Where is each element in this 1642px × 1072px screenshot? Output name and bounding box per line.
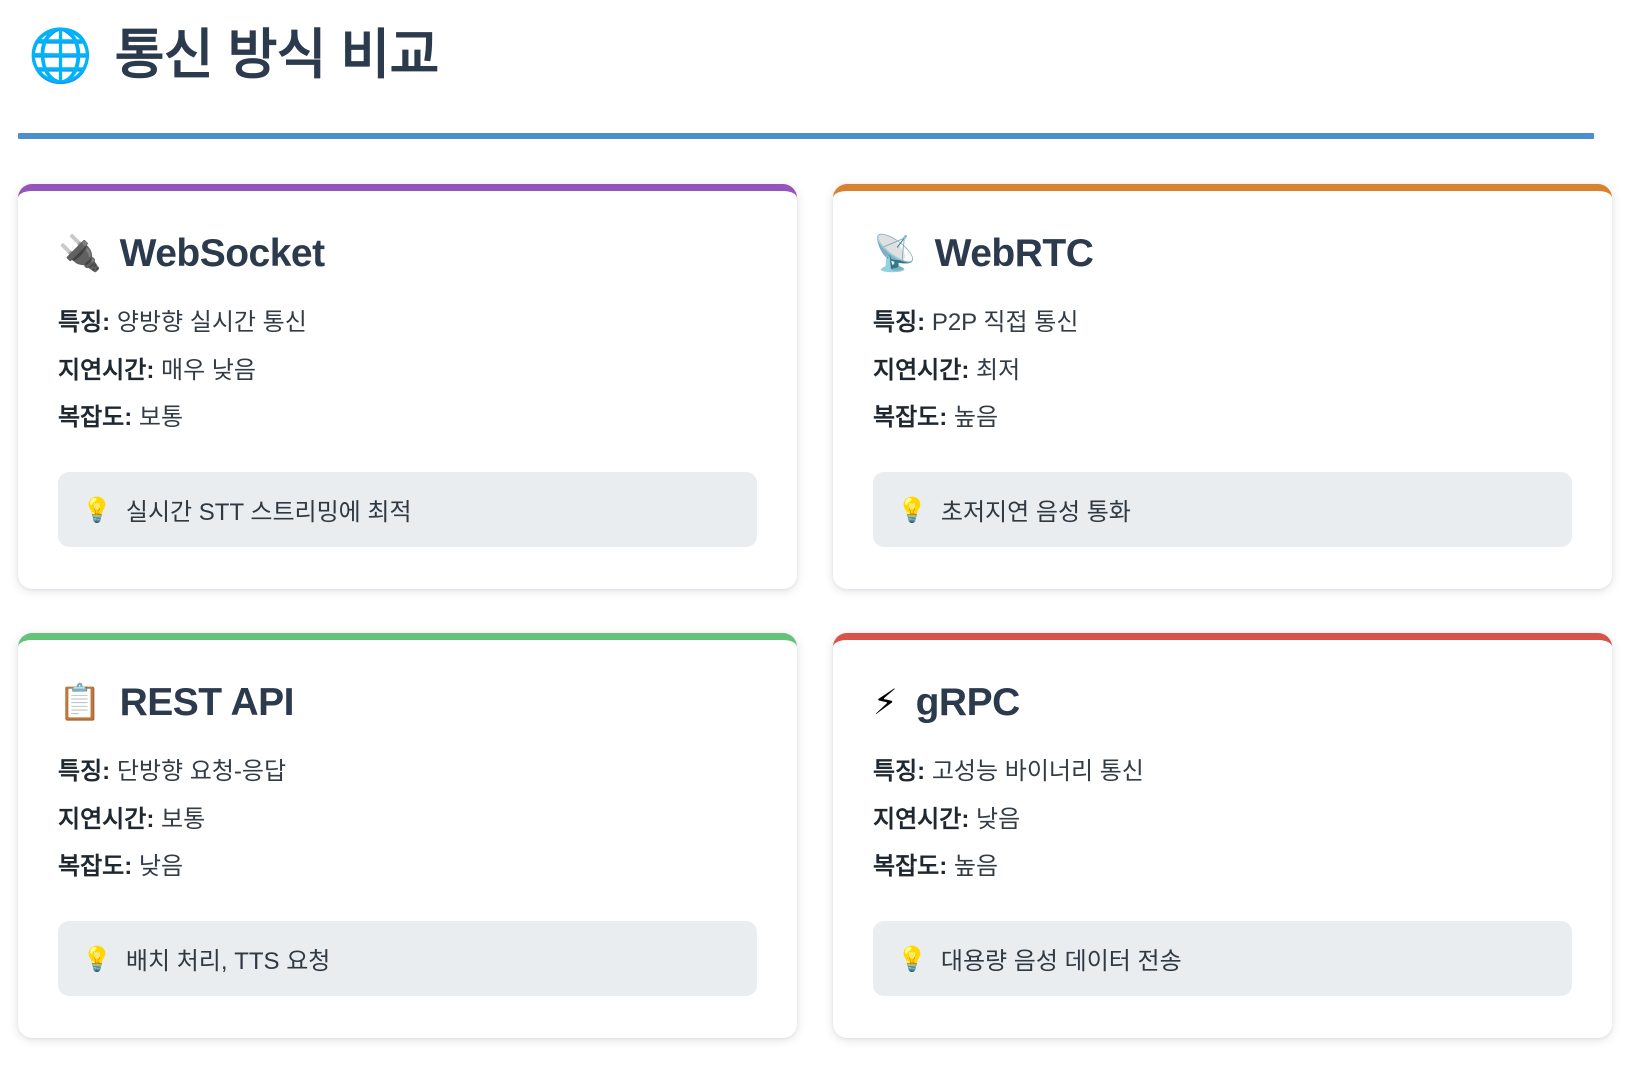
spec-feature-label: 특징: [58,758,110,785]
light-bulb-icon: 💡 [82,498,112,522]
protocol-card-grpc[interactable]: ⚡ gRPC 특징: 고성능 바이너리 통신 지연시간: 낮음 복잡도: 높음 … [833,633,1612,1038]
card-title-text: WebSocket [120,233,325,276]
spec-complexity-value: 높음 [954,404,998,431]
protocol-card-websocket[interactable]: 🔌 WebSocket 특징: 양방향 실시간 통신 지연시간: 매우 낮음 복… [18,184,797,589]
spec-complexity-label: 복잡도: [58,404,132,431]
title-row: 🌐 통신 방식 비교 [18,26,1624,85]
header-divider [18,133,1594,139]
page-title: 통신 방식 비교 [115,26,439,85]
tip-box: 💡 실시간 STT 스트리밍에 최적 [58,472,757,547]
spec-complexity-label: 복잡도: [873,404,947,431]
light-bulb-icon: 💡 [897,498,927,522]
spec-latency-label: 지연시간: [58,806,154,833]
light-bulb-icon: 💡 [897,947,927,971]
spec-complexity-value: 낮음 [139,853,183,880]
spec-complexity-label: 복잡도: [58,853,132,880]
plug-icon: 🔌 [58,237,102,272]
protocol-card-webrtc[interactable]: 📡 WebRTC 특징: P2P 직접 통신 지연시간: 최저 복잡도: 높음 … [833,184,1612,589]
spec-feature-label: 특징: [58,309,110,336]
spec-list: 특징: P2P 직접 통신 지연시간: 최저 복잡도: 높음 [873,310,1572,452]
tip-text: 실시간 STT 스트리밍에 최적 [126,492,412,527]
spec-latency: 지연시간: 낮음 [873,807,1572,833]
spec-latency-value: 낮음 [976,806,1020,833]
tip-box: 💡 초저지연 음성 통화 [873,472,1572,547]
spec-list: 특징: 단방향 요청-응답 지연시간: 보통 복잡도: 낮음 [58,759,757,901]
card-header: 📋 REST API [58,682,757,725]
spec-latency: 지연시간: 매우 낮음 [58,358,757,384]
spec-feature: 특징: P2P 직접 통신 [873,310,1572,336]
spec-latency: 지연시간: 최저 [873,358,1572,384]
spec-feature-value: P2P 직접 통신 [932,309,1079,336]
spec-complexity: 복잡도: 높음 [873,405,1572,431]
spec-complexity-label: 복잡도: [873,853,947,880]
spec-latency-value: 최저 [976,357,1020,384]
spec-feature: 특징: 단방향 요청-응답 [58,759,757,785]
spec-feature-label: 특징: [873,758,925,785]
spec-feature-label: 특징: [873,309,925,336]
spec-complexity: 복잡도: 낮음 [58,854,757,880]
spec-latency-value: 매우 낮음 [161,357,256,384]
card-header: ⚡ gRPC [873,682,1572,725]
light-bulb-icon: 💡 [82,947,112,971]
spec-feature: 특징: 고성능 바이너리 통신 [873,759,1572,785]
protocol-card-rest-api[interactable]: 📋 REST API 특징: 단방향 요청-응답 지연시간: 보통 복잡도: 낮… [18,633,797,1038]
card-header: 📡 WebRTC [873,233,1572,276]
spec-feature: 특징: 양방향 실시간 통신 [58,310,757,336]
tip-text: 초저지연 음성 통화 [941,492,1131,527]
spec-list: 특징: 고성능 바이너리 통신 지연시간: 낮음 복잡도: 높음 [873,759,1572,901]
spec-complexity: 복잡도: 보통 [58,405,757,431]
spec-complexity-value: 높음 [954,853,998,880]
high-voltage-icon: ⚡ [873,686,898,721]
card-header: 🔌 WebSocket [58,233,757,276]
tip-box: 💡 배치 처리, TTS 요청 [58,921,757,996]
spec-complexity-value: 보통 [139,404,183,431]
spec-feature-value: 고성능 바이너리 통신 [932,758,1144,785]
card-title-text: REST API [120,682,294,725]
card-title-text: WebRTC [935,233,1094,276]
comparison-page: 🌐 통신 방식 비교 🔌 WebSocket 특징: 양방향 실시간 통신 지연… [0,0,1642,1072]
spec-latency: 지연시간: 보통 [58,807,757,833]
spec-latency-label: 지연시간: [873,806,969,833]
spec-latency-value: 보통 [161,806,205,833]
spec-feature-value: 양방향 실시간 통신 [117,309,307,336]
satellite-antenna-icon: 📡 [873,237,917,272]
tip-text: 배치 처리, TTS 요청 [126,941,330,976]
tip-text: 대용량 음성 데이터 전송 [941,941,1182,976]
page-header: 🌐 통신 방식 비교 [18,18,1624,139]
clipboard-icon: 📋 [58,686,102,721]
spec-latency-label: 지연시간: [58,357,154,384]
spec-feature-value: 단방향 요청-응답 [117,758,286,785]
protocol-card-grid: 🔌 WebSocket 특징: 양방향 실시간 통신 지연시간: 매우 낮음 복… [18,184,1624,1038]
spec-complexity: 복잡도: 높음 [873,854,1572,880]
globe-icon: 🌐 [28,30,93,82]
spec-list: 특징: 양방향 실시간 통신 지연시간: 매우 낮음 복잡도: 보통 [58,310,757,452]
spec-latency-label: 지연시간: [873,357,969,384]
card-title-text: gRPC [916,682,1020,725]
tip-box: 💡 대용량 음성 데이터 전송 [873,921,1572,996]
